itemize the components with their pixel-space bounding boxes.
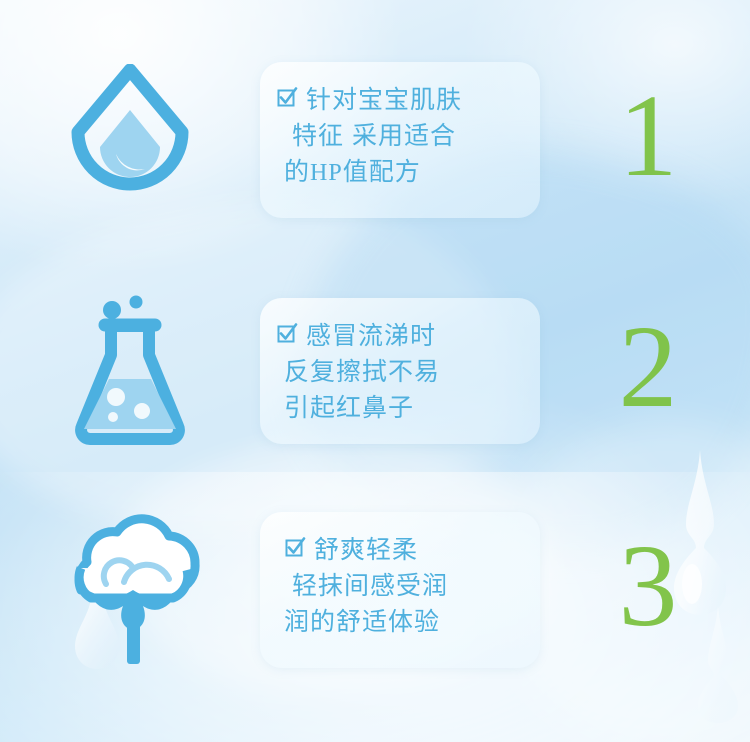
feature-text-1-1: 针对宝宝肌肤 [306,82,462,118]
feature-line-3-3: 润的舒适体验 [276,604,524,640]
feature-text-2-2: 反复擦拭不易 [284,354,440,390]
checkbox-checked-icon [276,86,298,108]
promo-banner: 针对宝宝肌肤 特征 采用适合 的HP值配方 1 [0,0,750,742]
feature-card-1: 针对宝宝肌肤 特征 采用适合 的HP值配方 [260,62,540,218]
feature-icon-cell-3 [0,506,260,674]
cotton-boll-icon [45,506,215,674]
checkbox-checked-icon [276,322,298,344]
feature-icon-cell-2 [0,293,260,449]
feature-text-1-3: 的HP值配方 [284,154,421,191]
feature-line-2-2: 反复擦拭不易 [276,354,524,390]
feature-number-cell-1: 1 [540,81,750,199]
feature-row-2: 感冒流涕时 反复擦拭不易 引起红鼻子 2 [0,278,750,464]
feature-line-1-2: 特征 采用适合 [276,118,524,154]
feature-text-1-2: 特征 采用适合 [292,118,456,154]
feature-number-3: 3 [619,527,678,645]
feature-text-1-3-latin: HP [310,160,343,186]
feature-text-2-3: 引起红鼻子 [284,390,414,426]
feature-line-1-1: 针对宝宝肌肤 [276,82,524,118]
feature-line-3-1: 舒爽轻柔 [276,532,524,568]
feature-row-1: 针对宝宝肌肤 特征 采用适合 的HP值配方 1 [0,42,750,238]
feature-number-cell-2: 2 [540,312,750,430]
feature-number-2: 2 [619,308,678,426]
water-drop-icon [64,64,196,216]
feature-line-3-2: 轻抹间感受润 [276,568,524,604]
feature-row-3: 舒爽轻柔 轻抹间感受润 润的舒适体验 3 [0,492,750,688]
feature-text-1-3-suffix: 值配方 [343,158,421,186]
feature-text-3-2: 轻抹间感受润 [292,568,448,604]
feature-text-3-3: 润的舒适体验 [284,604,440,640]
feature-icon-cell-1 [0,64,260,216]
feature-card-2: 感冒流涕时 反复擦拭不易 引起红鼻子 [260,298,540,444]
feature-number-cell-3: 3 [540,531,750,649]
feature-text-2-1: 感冒流涕时 [306,318,436,354]
feature-line-1-3: 的HP值配方 [276,154,524,191]
checkbox-checked-icon [284,536,306,558]
feature-line-2-1: 感冒流涕时 [276,318,524,354]
feature-text-3-1: 舒爽轻柔 [314,532,418,568]
feature-number-1: 1 [619,77,678,195]
feature-line-2-3: 引起红鼻子 [276,390,524,426]
feature-card-3: 舒爽轻柔 轻抹间感受润 润的舒适体验 [260,512,540,668]
feature-text-1-3-prefix: 的 [284,158,310,186]
flask-icon [68,293,192,449]
